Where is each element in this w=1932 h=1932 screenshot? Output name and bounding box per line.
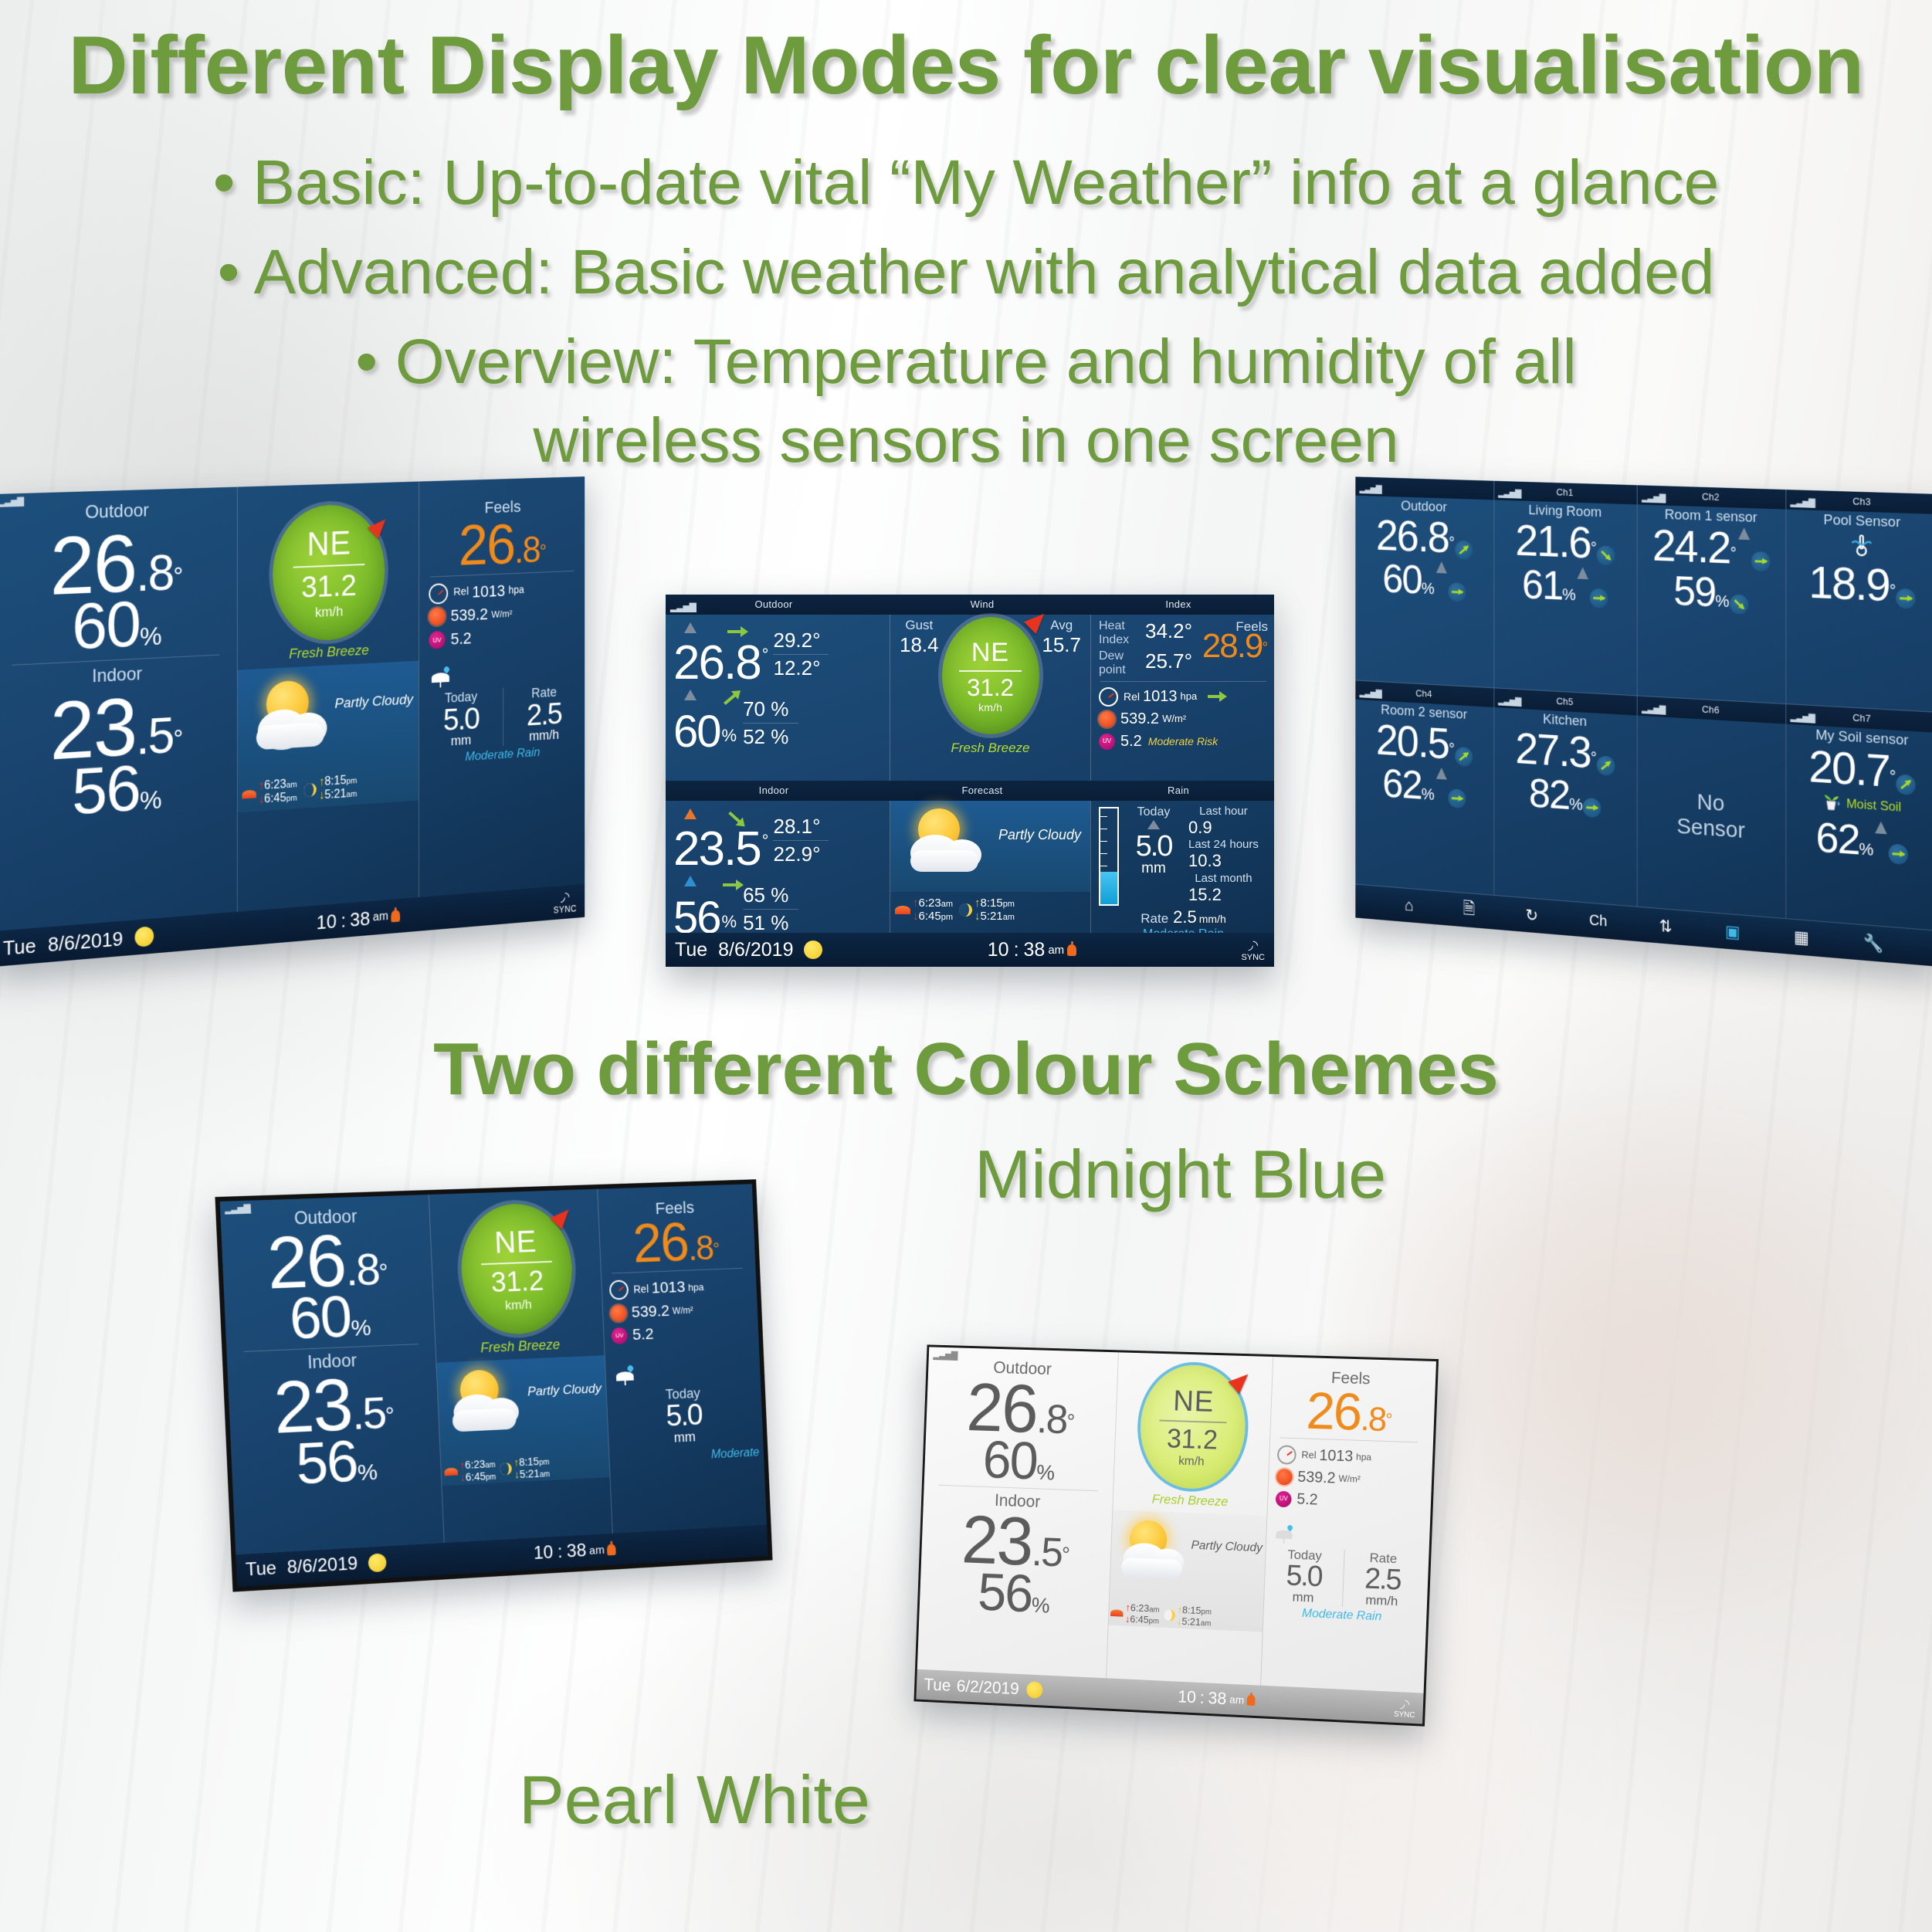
sensor-tile-ch5[interactable]: ▂▃▅▇Ch5Kitchen27.3°82%	[1494, 688, 1638, 907]
feels-temperature: 26	[1305, 1381, 1361, 1442]
moonrise-ampm: pm	[1003, 900, 1015, 909]
rain-lasthour-label: Last hour	[1188, 805, 1259, 819]
degree-symbol: °	[1890, 581, 1896, 600]
heat-index-value: 34.2°	[1145, 619, 1192, 646]
plant-moisture-icon	[1822, 791, 1842, 815]
rain-rate-value: 2.5	[1173, 907, 1197, 927]
sensor-channel-label: Ch7	[1852, 712, 1871, 724]
feels-temperature: 26	[459, 511, 514, 578]
sensor-temperature: 27.3	[1515, 724, 1591, 778]
rain-umbrella-icon	[1274, 1524, 1294, 1542]
pressure-prefix: Rel	[453, 585, 469, 600]
solar-unit: W/m²	[1338, 1473, 1361, 1486]
degree-symbol: °	[762, 831, 769, 851]
chart-icon[interactable]: ▣	[1725, 922, 1740, 943]
heat-index-label: Heat Index	[1099, 619, 1141, 646]
solar-radiation-icon	[1099, 711, 1115, 727]
trend-arrow-flat-icon	[1448, 582, 1466, 602]
footer-day: Tue	[245, 1557, 276, 1581]
clock-separator: :	[1014, 939, 1019, 961]
uv-index-icon: UV	[611, 1327, 628, 1344]
clock-minutes: 38	[350, 907, 370, 931]
trend-arrow-up-icon	[1455, 747, 1473, 767]
alert-triangle-icon	[684, 808, 697, 819]
uv-index-icon: UV	[429, 631, 445, 649]
display-panel-advanced[interactable]: ▂▃▅▇ Outdoor Wind Index 26.8 ° 29.2°	[666, 595, 1274, 967]
bullet-overview: • Overview: Temperature and humidity of …	[0, 320, 1932, 405]
status-bar: Tue 8/6/2019 10 : 38 am ◞◝ SYNC	[666, 933, 1274, 967]
uv-risk-label: Moderate Risk	[1148, 736, 1218, 747]
sunrise-sunset-icon	[444, 1468, 458, 1476]
moonset-time: 5:21	[980, 910, 1002, 923]
trend-arrow-flat-icon	[1751, 551, 1770, 571]
wind-speed-unit: km/h	[978, 702, 1002, 714]
feels-temperature-decimal: .8	[687, 1228, 713, 1268]
midnight-blue-label: Midnight Blue	[974, 1135, 1386, 1214]
signal-bars-icon: ▂▃▅▇	[1360, 683, 1381, 703]
clock-ampm: am	[1048, 944, 1064, 957]
pressure-trend-flat-icon	[1208, 695, 1222, 698]
degree-symbol: °	[1449, 534, 1455, 552]
pressure-prefix: Rel	[1301, 1449, 1317, 1463]
channel-button[interactable]: Ch	[1589, 912, 1607, 930]
sensor-channel-label: Ch3	[1852, 496, 1871, 508]
moon-icon	[500, 1463, 512, 1475]
wind-speed: 31.2	[490, 1265, 544, 1299]
display-panel-midnight-blue[interactable]: ▂▃▅▇ Outdoor 26.8° 60% Indoor 23.5° 56% …	[215, 1179, 772, 1591]
sensor-tile-ch3[interactable]: ▂▃▅▇Ch3Pool Sensor18.9°	[1786, 490, 1932, 713]
pressure-unit: hpa	[1356, 1451, 1371, 1464]
soil-status-label: Moist Soil	[1846, 796, 1901, 815]
sensor-humidity: 59	[1673, 566, 1715, 615]
uv-value: 5.2	[632, 1324, 655, 1346]
alert-triangle-icon	[1436, 767, 1447, 779]
wind-dial[interactable]: NE 31.2 km/h	[273, 503, 385, 643]
sunrise-ampm: am	[286, 781, 297, 791]
moon-phase-icon	[135, 926, 154, 947]
sensor-humidity-unit: %	[1562, 585, 1576, 604]
solar-value: 539.2	[1297, 1466, 1336, 1489]
footer-day: Tue	[675, 939, 707, 961]
adv-indoor-hum-max: 65 %	[743, 883, 798, 907]
wind-direction: NE	[307, 524, 351, 563]
trend-arrow-up-icon	[1597, 755, 1615, 776]
uv-index-icon: UV	[1099, 734, 1115, 750]
uv-index-icon: UV	[1276, 1490, 1292, 1507]
tile-title-index: Index	[1083, 595, 1274, 615]
clock-ampm: am	[1229, 1693, 1245, 1707]
degree-symbol: °	[1890, 767, 1896, 786]
rain-gauge-icon	[1099, 807, 1119, 906]
bullet-basic: • Basic: Up-to-date vital “My Weather” i…	[0, 141, 1932, 225]
clock-separator: :	[1199, 1688, 1205, 1708]
alert-triangle-icon	[1875, 821, 1886, 834]
home-icon[interactable]: ⌂	[1405, 896, 1414, 915]
indoor-humidity-unit: %	[1031, 1593, 1050, 1617]
alert-triangle-icon	[1738, 527, 1750, 540]
forecast-description: Partly Cloudy	[334, 692, 412, 713]
sensor-tile-ch6[interactable]: ▂▃▅▇Ch6NoSensor	[1638, 697, 1786, 920]
degree-symbol: °	[1591, 538, 1597, 557]
sensor-channel-label: Ch6	[1702, 703, 1720, 716]
solar-radiation-icon	[429, 608, 445, 626]
humidity-trend-flat-icon	[723, 883, 738, 886]
sync-status-icon: ◞◝ SYNC	[1241, 937, 1265, 962]
alert-triangle-icon	[684, 876, 697, 886]
footer-day: Tue	[3, 934, 36, 960]
pressure-unit: hpa	[1181, 690, 1198, 703]
feels-temperature: 26	[632, 1212, 690, 1274]
rain-lastmonth-value: 15.2	[1188, 886, 1259, 905]
sensor-humidity: 60	[1382, 554, 1421, 602]
minmax-icon[interactable]: ⇅	[1659, 917, 1673, 937]
adv-indoor-temp-min: 22.9°	[773, 842, 829, 866]
moonset-ampm: am	[1003, 913, 1015, 922]
degree-symbol: °	[1449, 740, 1455, 758]
degree-symbol: °	[1591, 748, 1597, 768]
rain-today-value: 5.0	[1125, 833, 1182, 860]
sunrise-sunset-icon	[1110, 1609, 1124, 1617]
footer-date: 8/6/2019	[718, 939, 793, 961]
sensor-channel-label: Ch2	[1702, 491, 1720, 503]
sunset-ampm: pm	[286, 794, 297, 804]
uv-value: 5.2	[1120, 731, 1142, 751]
alert-triangle-icon	[1578, 567, 1588, 579]
scheme-section-title: Two different Colour Schemes	[0, 1027, 1932, 1112]
rain-today-unit: mm	[1125, 860, 1182, 877]
adv-indoor-humidity-unit: %	[722, 912, 737, 932]
sunrise-time: 6:23	[1130, 1602, 1150, 1614]
adv-indoor-temperature: 23.5	[673, 827, 761, 871]
sunrise-time: 6:23	[919, 897, 941, 910]
outdoor-temperature-decimal: .8	[344, 1245, 380, 1296]
degree-symbol: °	[385, 1403, 395, 1429]
trend-arrow-down-icon	[1597, 545, 1615, 565]
clock-separator: :	[341, 909, 346, 932]
clock-separator: :	[557, 1541, 563, 1563]
sensor-channel-label: Ch1	[1556, 486, 1573, 498]
no-sensor-message: NoSensor	[1638, 716, 1785, 918]
adv-outdoor-hum-min: 52 %	[743, 725, 798, 749]
clock-hours: 10	[1178, 1687, 1197, 1708]
sensor-humidity: 82	[1529, 769, 1569, 819]
forecast-description: Partly Cloudy	[998, 827, 1081, 843]
signal-bars-icon: ▂▃▅▇	[1498, 690, 1520, 710]
signal-bars-icon: ▂▃▅▇	[1498, 483, 1520, 503]
outdoor-humidity: 60	[288, 1284, 352, 1352]
solar-value: 539.2	[631, 1300, 669, 1324]
sunset-time: 6:45	[1130, 1613, 1149, 1625]
moonrise-ampm: pm	[346, 776, 357, 785]
headline-block: Different Display Modes for clear visual…	[0, 0, 1932, 483]
barometer-icon	[429, 583, 448, 605]
moon-phase-icon	[368, 1553, 386, 1572]
sensor-humidity: 62	[1816, 812, 1859, 863]
adv-outdoor-temperature: 26.8	[673, 641, 761, 685]
rain-lastmonth-label: Last month	[1188, 873, 1259, 886]
sunrise-ampm: am	[941, 900, 953, 909]
adv-outdoor-humidity-unit: %	[722, 726, 737, 746]
signal-bars-icon: ▂▃▅▇	[1791, 707, 1815, 727]
sensor-humidity-unit: %	[1715, 591, 1729, 611]
indoor-humidity: 56	[977, 1562, 1033, 1623]
partly-cloudy-icon	[245, 674, 337, 761]
degree-symbol: °	[1385, 1410, 1393, 1430]
adv-outdoor-humidity: 60	[673, 711, 720, 752]
outdoor-temperature-decimal: .8	[1035, 1396, 1067, 1442]
adv-indoor-hum-min: 51 %	[743, 911, 798, 935]
sunset-ampm: pm	[941, 913, 953, 922]
solar-unit: W/m²	[672, 1304, 693, 1317]
tile-title-wind: Wind	[882, 595, 1083, 615]
signal-bars-icon: ▂▃▅▇	[1642, 487, 1665, 507]
degree-symbol: °	[1262, 640, 1268, 656]
sunrise-ampm: am	[1149, 1605, 1160, 1614]
indoor-humidity-unit: %	[140, 785, 162, 815]
wind-speed: 31.2	[301, 568, 357, 605]
wind-speed-unit: km/h	[1178, 1454, 1205, 1469]
page-title: Different Display Modes for clear visual…	[0, 22, 1932, 108]
indoor-humidity: 56	[72, 751, 140, 828]
sensor-tile-ch2[interactable]: ▂▃▅▇Ch2Room 1 sensor24.2°59%	[1638, 485, 1786, 704]
outdoor-humidity-unit: %	[140, 622, 162, 652]
trend-arrow-up-icon	[1455, 540, 1473, 559]
clock-minutes: 38	[566, 1541, 586, 1563]
indoor-humidity-unit: %	[357, 1459, 378, 1486]
sync-status-icon: ◞◝ SYNC	[1394, 1696, 1416, 1719]
moonrise-ampm: pm	[1201, 1608, 1212, 1616]
solar-value: 539.2	[451, 604, 488, 627]
wind-speed: 31.2	[967, 674, 1014, 702]
sunset-time: 6:45	[264, 791, 286, 805]
sensor-tile-ch1[interactable]: ▂▃▅▇Ch1Living Room21.6°61%	[1494, 481, 1638, 697]
solar-radiation-icon	[1276, 1469, 1293, 1486]
solar-value: 539.2	[1120, 709, 1159, 729]
uv-value: 5.2	[1296, 1489, 1318, 1510]
refresh-icon[interactable]: ↻	[1525, 906, 1537, 926]
rain-description: Moderate	[609, 1446, 761, 1467]
sunrise-sunset-icon	[895, 906, 910, 914]
partly-cloudy-icon	[1113, 1517, 1198, 1593]
indoor-temperature-decimal: .5	[351, 1388, 386, 1439]
feels-temperature-decimal: .8	[514, 529, 540, 571]
moon-phase-icon	[1026, 1681, 1043, 1698]
barometer-icon	[1099, 687, 1118, 707]
clock-ampm: am	[589, 1544, 605, 1557]
feels-temperature-decimal: .8	[1360, 1400, 1386, 1439]
clock-minutes: 38	[1024, 939, 1046, 961]
pressure-value: 1013	[472, 580, 505, 603]
forecast-description: Partly Cloudy	[1191, 1539, 1263, 1556]
moonset-time: 5:21	[1181, 1615, 1201, 1628]
wind-speed: 31.2	[1166, 1423, 1218, 1456]
degree-symbol: °	[378, 1259, 388, 1285]
moonrise-ampm: pm	[539, 1459, 550, 1467]
wind-description: Fresh Breeze	[1113, 1490, 1267, 1511]
degree-symbol: °	[762, 645, 769, 665]
moonset-time: 5:21	[519, 1467, 540, 1480]
trend-arrow-flat-icon	[1583, 797, 1602, 818]
sensor-humidity: 62	[1382, 759, 1421, 808]
moonrise-time: 8:15	[1182, 1604, 1202, 1616]
degree-symbol: °	[173, 561, 183, 591]
degree-symbol: °	[1066, 1410, 1076, 1434]
alarm-bell-icon	[607, 1544, 616, 1555]
degree-symbol: °	[173, 724, 183, 754]
sensor-humidity-unit: %	[1569, 795, 1583, 814]
wind-dial[interactable]: NE 31.2 km/h	[942, 617, 1039, 734]
calendar-icon[interactable]: ▦	[1794, 927, 1809, 948]
dew-point-value: 25.7°	[1145, 649, 1192, 676]
degree-symbol: °	[540, 540, 547, 561]
adv-feels-value: 28.9	[1202, 627, 1263, 665]
sunset-ampm: pm	[486, 1473, 497, 1482]
sensor-humidity-unit: %	[1422, 785, 1435, 804]
sensor-channel-label: Ch4	[1415, 687, 1432, 699]
pressure-prefix: Rel	[1124, 690, 1140, 703]
wind-speed-unit: km/h	[505, 1296, 533, 1313]
tile-title-indoor: Indoor	[666, 781, 882, 801]
moonrise-time: 8:15	[519, 1455, 540, 1468]
outdoor-humidity-unit: %	[351, 1315, 371, 1341]
moon-phase-icon	[804, 941, 822, 959]
sensor-channel-label: Ch5	[1556, 696, 1573, 708]
moon-icon	[1164, 1609, 1175, 1621]
moonrise-time: 8:15	[980, 897, 1002, 910]
display-panel-basic[interactable]: ▂▃▅▇ Outdoor 26.8° 60% Indoor 23.5° 56%	[0, 476, 585, 967]
trend-arrow-up-icon	[1896, 774, 1915, 795]
clock-ampm: am	[373, 910, 388, 925]
adv-outdoor-temp-max: 29.2°	[773, 629, 829, 652]
wrench-icon[interactable]: 🔧	[1864, 933, 1884, 954]
sunrise-time: 6:23	[465, 1458, 486, 1471]
bullet-overview-cont: wireless sensors in one screen	[0, 398, 1932, 483]
rain-last24-label: Last 24 hours	[1188, 839, 1259, 852]
sunrise-sunset-icon	[242, 789, 256, 798]
forecast-description: Partly Cloudy	[527, 1381, 602, 1400]
rain-today-label: Today	[1125, 805, 1182, 819]
rain-today-value: 5.0	[1265, 1561, 1344, 1591]
sync-status-icon: ◞◝ SYNC	[554, 889, 577, 915]
moonset-ampm: am	[346, 790, 357, 799]
signal-bars-icon: ▂▃▅▇	[1642, 699, 1665, 720]
temperature-trend-flat-icon	[727, 630, 743, 633]
alarm-bell-icon	[391, 910, 400, 922]
moon-icon	[959, 903, 972, 917]
wind-description: Fresh Breeze	[890, 741, 1090, 756]
wind-direction: NE	[493, 1225, 537, 1260]
partly-cloudy-icon	[441, 1364, 531, 1444]
outdoor-humidity-unit: %	[1036, 1460, 1056, 1484]
pressure-prefix: Rel	[633, 1282, 649, 1296]
pressure-unit: hpa	[688, 1280, 704, 1294]
footer-date: 8/6/2019	[48, 927, 123, 957]
moonrise-time: 8:15	[324, 774, 346, 788]
rain-today-unit: mm	[1264, 1588, 1342, 1607]
sensor-humidity-unit: %	[1422, 579, 1435, 598]
indoor-humidity: 56	[294, 1428, 358, 1496]
sunrise-ampm: am	[485, 1461, 496, 1469]
pressure-unit: hpa	[509, 583, 524, 598]
bullet-advanced: • Advanced: Basic weather with analytica…	[0, 230, 1932, 315]
outdoor-humidity: 60	[72, 588, 140, 664]
outdoor-humidity: 60	[981, 1430, 1038, 1491]
solar-radiation-icon	[610, 1304, 627, 1321]
footer-day: Tue	[924, 1675, 951, 1696]
clock-hours: 10	[317, 910, 337, 934]
adv-outdoor-temp-min: 12.2°	[773, 656, 829, 680]
rain-umbrella-icon	[615, 1365, 636, 1385]
uv-value: 5.2	[451, 628, 472, 650]
trend-arrow-flat-icon	[1896, 588, 1915, 608]
sunrise-time: 6:23	[264, 778, 286, 792]
tile-title-rain: Rain	[1083, 781, 1274, 801]
sensor-tile-ch7[interactable]: ▂▃▅▇Ch7My Soil sensor20.7°Moist Soil62%	[1786, 704, 1932, 931]
barometer-icon	[609, 1280, 629, 1300]
trend-arrow-flat-icon	[1448, 788, 1466, 808]
report-search-icon[interactable]: 🗎	[1463, 896, 1476, 924]
moonset-ampm: am	[1201, 1619, 1212, 1628]
trend-arrow-down-icon	[1730, 594, 1748, 614]
degree-symbol: °	[713, 1239, 720, 1259]
sunset-time: 6:45	[465, 1470, 486, 1483]
sensor-tile-outdoor[interactable]: ▂▃▅▇Outdoor26.8°60%	[1355, 476, 1494, 688]
sensor-humidity-unit: %	[1859, 839, 1874, 859]
rain-rate-label: Rate	[1141, 911, 1168, 927]
trend-arrow-flat-icon	[1889, 843, 1908, 865]
moonset-ampm: am	[540, 1470, 551, 1479]
pressure-value: 1013	[1319, 1446, 1354, 1467]
alarm-bell-icon	[1247, 1695, 1256, 1706]
wind-direction: NE	[1173, 1385, 1215, 1418]
sensor-tile-ch4[interactable]: ▂▃▅▇Ch4Room 2 sensor20.5°62%	[1355, 680, 1494, 895]
solar-unit: W/m²	[1162, 713, 1186, 726]
footer-date: 6/2/2019	[956, 1676, 1019, 1699]
tile-title-outdoor: Outdoor	[754, 598, 792, 610]
solar-unit: W/m²	[491, 607, 512, 621]
display-panel-pearl-white[interactable]: ▂▃▅▇ Outdoor 26.8° 60% Indoor 23.5° 56% …	[913, 1344, 1439, 1726]
partly-cloudy-icon	[901, 805, 994, 886]
wind-speed-unit: km/h	[315, 603, 343, 621]
wind-description: Fresh Breeze	[436, 1335, 604, 1358]
alert-triangle-icon	[1147, 820, 1160, 829]
alert-triangle-icon	[1436, 561, 1447, 574]
sensor-temperature: 18.9	[1808, 557, 1890, 612]
trend-arrow-flat-icon	[1590, 588, 1608, 608]
sensor-humidity: 61	[1522, 560, 1562, 608]
indoor-temperature-decimal: .5	[1031, 1529, 1063, 1575]
sensor-temperature: 20.7	[1808, 741, 1890, 797]
rain-umbrella-icon	[430, 666, 451, 686]
display-panel-overview[interactable]: ▂▃▅▇Outdoor26.8°60%▂▃▅▇Ch1Living Room21.…	[1355, 476, 1932, 967]
signal-bars-icon: ▂▃▅▇	[1791, 492, 1815, 513]
wind-direction: NE	[971, 638, 1009, 668]
adv-outdoor-hum-max: 70 %	[743, 697, 798, 721]
rain-rate-value: 2.5	[1343, 1564, 1422, 1595]
clock-minutes: 38	[1208, 1688, 1227, 1709]
moon-icon	[304, 783, 317, 797]
rain-rate-unit: mm/h	[1199, 913, 1226, 925]
dew-point-label: Dew point	[1099, 649, 1141, 676]
pressure-value: 1013	[651, 1277, 686, 1300]
sensor-temperature: 24.2	[1652, 520, 1730, 573]
alarm-bell-icon	[1067, 944, 1076, 956]
tile-title-forecast: Forecast	[882, 781, 1083, 801]
barometer-icon	[1277, 1445, 1296, 1465]
degree-symbol: °	[1061, 1543, 1070, 1567]
rain-rate-unit: mm/h	[1342, 1591, 1421, 1610]
rain-lasthour-value: 0.9	[1188, 819, 1259, 838]
